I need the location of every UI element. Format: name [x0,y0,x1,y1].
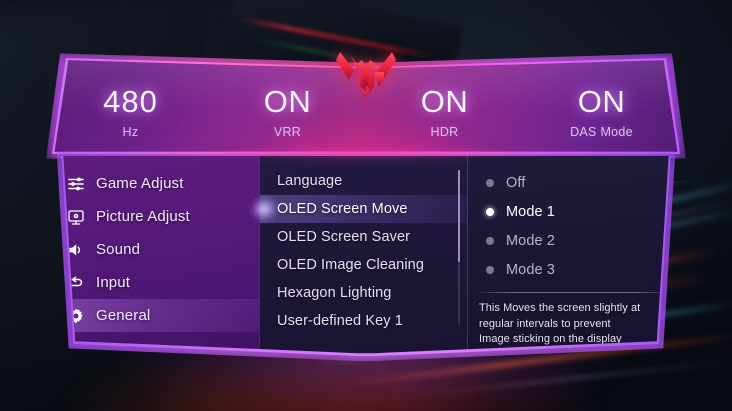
submenu-item-oled-screen-saver[interactable]: OLED Screen Saver [260,223,467,251]
option-label: Mode 2 [506,233,555,249]
submenu-list: Language OLED Screen Move OLED Screen Sa… [260,156,467,335]
option-description: This Moves the screen slightly at regula… [468,293,680,348]
sliders-icon [66,174,85,193]
status-das-mode: ON DAS Mode [523,86,680,139]
option-label: Mode 1 [506,204,555,220]
submenu-item-label: Language [277,173,342,189]
radio-dot-icon [486,266,494,274]
submenu-item-hexagon-lighting[interactable]: Hexagon Lighting [260,279,467,307]
body-inner: Game Adjust [52,156,680,356]
submenu-item-label: Hexagon Lighting [277,285,391,301]
status-label: Hz [52,125,209,139]
options-radio-group: Off Mode 1 Mode 2 Mode 3 [468,156,680,284]
osd-header: 480 Hz ON VRR ON HDR ON DAS Mode [52,56,680,156]
submenu-item-label: User-defined Key 1 [277,313,403,329]
status-value: ON [523,86,680,117]
submenu-item-oled-image-cleaning[interactable]: OLED Image Cleaning [260,251,467,279]
sidebar-item-label: General [96,307,150,324]
sidebar-item-label: Input [96,274,130,291]
status-label: HDR [366,125,523,139]
option-mode-3[interactable]: Mode 3 [468,255,680,284]
option-mode-2[interactable]: Mode 2 [468,226,680,255]
sidebar-item-label: Picture Adjust [96,208,190,225]
description-line: This Moves the screen slightly at [479,301,668,317]
status-label: DAS Mode [523,125,680,139]
sidebar-item-label: Sound [96,241,140,258]
radio-dot-icon [486,179,494,187]
radio-dot-selected-icon [486,208,494,216]
radio-dot-icon [486,237,494,245]
sidebar-item-picture-adjust[interactable]: Picture Adjust [52,200,259,233]
submenu-item-language[interactable]: Language [260,167,467,195]
osd-body: Game Adjust [52,156,680,356]
sidebar-list: Game Adjust [52,156,259,332]
submenu-item-user-defined-key-1[interactable]: User-defined Key 1 [260,307,467,335]
lg-ultragear-logo-icon [334,40,398,102]
option-off[interactable]: Off [468,168,680,197]
submenu-item-oled-screen-move[interactable]: OLED Screen Move [260,195,467,223]
osd-panel: 480 Hz ON VRR ON HDR ON DAS Mode [52,56,680,356]
submenu-item-label: OLED Image Cleaning [277,257,424,273]
sidebar-item-game-adjust[interactable]: Game Adjust [52,167,259,200]
submenu-item-label: OLED Screen Saver [277,229,410,245]
status-label: VRR [209,125,366,139]
submenu-column: Language OLED Screen Move OLED Screen Sa… [259,156,467,356]
status-refresh-rate: 480 Hz [52,86,209,139]
submenu-item-label: OLED Screen Move [277,201,408,217]
sidebar-item-general[interactable]: General [52,299,259,332]
option-label: Off [506,175,525,191]
sidebar-item-label: Game Adjust [96,175,184,192]
sidebar-item-sound[interactable]: Sound [52,233,259,266]
sidebar-item-input[interactable]: Input [52,266,259,299]
submenu-scrollbar[interactable] [458,170,460,325]
options-column: Off Mode 1 Mode 2 Mode 3 [467,156,680,356]
option-mode-1[interactable]: Mode 1 [468,197,680,226]
option-label: Mode 3 [506,262,555,278]
monitor-gear-icon [66,207,85,226]
status-value: 480 [52,86,209,117]
menu-columns: Game Adjust [52,156,680,356]
header-underglow-line [152,152,582,155]
submenu-scrollbar-thumb[interactable] [458,170,460,262]
sidebar: Game Adjust [52,156,259,356]
description-line: regular intervals to prevent [479,317,668,333]
